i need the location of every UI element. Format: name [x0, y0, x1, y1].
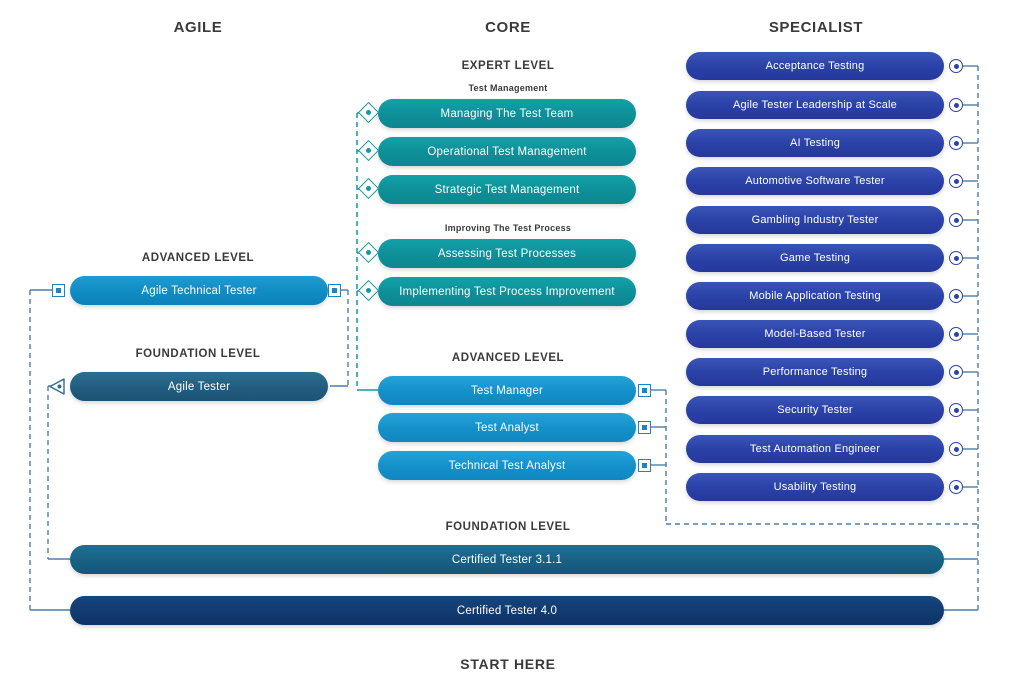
- pill-game-testing[interactable]: Game Testing: [686, 244, 944, 272]
- pill-technical-test-analyst[interactable]: Technical Test Analyst: [378, 451, 636, 480]
- pill-acceptance-testing[interactable]: Acceptance Testing: [686, 52, 944, 80]
- pill-agile-tester[interactable]: Agile Tester: [70, 372, 328, 401]
- core-expert-group-1-subheading: Improving The Test Process: [428, 223, 588, 233]
- connector-diamond-icon: [358, 280, 379, 301]
- pill-test-automation-engineer[interactable]: Test Automation Engineer: [686, 435, 944, 463]
- connector-circle-icon: [949, 136, 963, 150]
- connector-circle-icon: [949, 480, 963, 494]
- connector-diamond-icon: [358, 178, 379, 199]
- connector-circle-icon: [949, 174, 963, 188]
- connector-circle-icon: [949, 442, 963, 456]
- foundation-level-heading: FOUNDATION LEVEL: [428, 521, 588, 533]
- pill-mobile-application-testing[interactable]: Mobile Application Testing: [686, 282, 944, 310]
- connector-circle-icon: [949, 59, 963, 73]
- connector-circle-icon: [949, 327, 963, 341]
- connector-circle-icon: [949, 98, 963, 112]
- core-advanced-level-heading: ADVANCED LEVEL: [428, 352, 588, 364]
- pill-automotive-software-tester[interactable]: Automotive Software Tester: [686, 167, 944, 195]
- connector-square-icon: [52, 284, 65, 297]
- pill-operational-test-management[interactable]: Operational Test Management: [378, 137, 636, 166]
- connector-circle-icon: [949, 365, 963, 379]
- start-here-label: START HERE: [428, 656, 588, 672]
- pill-usability-testing[interactable]: Usability Testing: [686, 473, 944, 501]
- pill-performance-testing[interactable]: Performance Testing: [686, 358, 944, 386]
- pill-security-tester[interactable]: Security Tester: [686, 396, 944, 424]
- connector-square-icon: [638, 459, 651, 472]
- pill-gambling-industry-tester[interactable]: Gambling Industry Tester: [686, 206, 944, 234]
- pill-certified-tester-311[interactable]: Certified Tester 3.1.1: [70, 545, 944, 574]
- pill-certified-tester-40[interactable]: Certified Tester 4.0: [70, 596, 944, 625]
- agile-foundation-level-heading: FOUNDATION LEVEL: [118, 348, 278, 360]
- connector-square-icon: [638, 384, 651, 397]
- pill-agile-technical-tester[interactable]: Agile Technical Tester: [70, 276, 328, 305]
- core-expert-group-0-subheading: Test Management: [428, 83, 588, 93]
- pill-assessing-test-processes[interactable]: Assessing Test Processes: [378, 239, 636, 268]
- connector-circle-icon: [949, 403, 963, 417]
- connector-diamond-icon: [358, 140, 379, 161]
- pill-test-analyst[interactable]: Test Analyst: [378, 413, 636, 442]
- pill-ai-testing[interactable]: AI Testing: [686, 129, 944, 157]
- agile-advanced-level-heading: ADVANCED LEVEL: [118, 252, 278, 264]
- connector-square-icon: [328, 284, 341, 297]
- connector-circle-icon: [949, 289, 963, 303]
- column-header-core: CORE: [428, 19, 588, 36]
- pill-test-manager[interactable]: Test Manager: [378, 376, 636, 405]
- connector-triangle-icon: [48, 378, 63, 395]
- column-header-specialist: SPECIALIST: [736, 19, 896, 36]
- column-header-agile: AGILE: [118, 19, 278, 36]
- connector-square-icon: [638, 421, 651, 434]
- pill-model-based-tester[interactable]: Model-Based Tester: [686, 320, 944, 348]
- core-expert-level-heading: EXPERT LEVEL: [428, 60, 588, 72]
- connector-circle-icon: [949, 251, 963, 265]
- pill-implementing-test-process-improvement[interactable]: Implementing Test Process Improvement: [378, 277, 636, 306]
- connector-diamond-icon: [358, 242, 379, 263]
- certification-scheme-diagram: AGILE CORE SPECIALIST EXPERT LEVEL Test …: [0, 0, 1009, 683]
- connector-circle-icon: [949, 213, 963, 227]
- pill-strategic-test-management[interactable]: Strategic Test Management: [378, 175, 636, 204]
- pill-agile-tester-leadership-at-scale[interactable]: Agile Tester Leadership at Scale: [686, 91, 944, 119]
- pill-managing-the-test-team[interactable]: Managing The Test Team: [378, 99, 636, 128]
- connector-diamond-icon: [358, 102, 379, 123]
